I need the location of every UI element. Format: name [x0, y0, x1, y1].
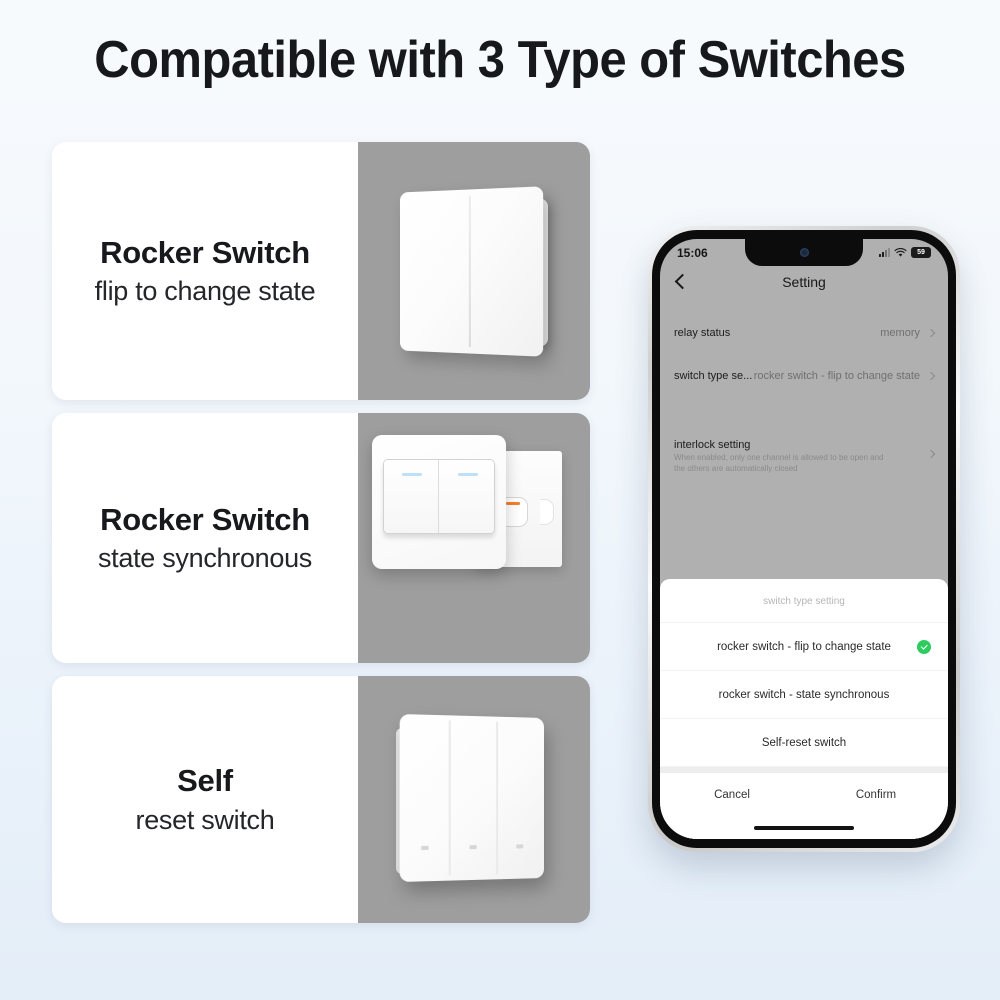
phone-screen: 15:06 59 Setting — [660, 239, 948, 839]
back-chevron-icon[interactable] — [673, 275, 687, 289]
card-subtitle: state synchronous — [98, 542, 312, 574]
wifi-icon — [894, 248, 907, 258]
card-subtitle: flip to change state — [95, 275, 316, 307]
row-description: When enabled, only one channel is allowe… — [674, 453, 886, 475]
chevron-right-icon — [927, 371, 935, 379]
green-check-circle-icon — [917, 640, 931, 654]
nav-title: Setting — [782, 274, 826, 290]
settings-row-interlock[interactable]: interlock setting When enabled, only one… — [660, 430, 948, 484]
card-text-block: Rocker Switch state synchronous — [52, 413, 358, 663]
card-text-block: Rocker Switch flip to change state — [52, 142, 358, 400]
phone-notch — [745, 239, 863, 266]
page-title: Compatible with 3 Type of Switches — [30, 30, 970, 90]
card-rocker-switch-flip: Rocker Switch flip to change state — [52, 142, 590, 400]
settings-row-switch-type[interactable]: switch type se... rocker switch - flip t… — [660, 354, 948, 397]
card-self-reset-switch: Self reset switch — [52, 676, 590, 923]
sheet-option-state-synchronous[interactable]: rocker switch - state synchronous — [660, 671, 948, 719]
phone-body: 15:06 59 Setting — [652, 230, 956, 848]
row-value: memory — [880, 327, 928, 339]
row-value: rocker switch - flip to change state — [754, 370, 928, 382]
row-label: relay status — [674, 327, 730, 339]
row-label: interlock setting — [674, 439, 886, 451]
phone-mockup: 15:06 59 Setting — [648, 226, 960, 852]
settings-row-relay-status[interactable]: relay status memory — [660, 311, 948, 354]
three-gang-self-reset-switch-angled-image — [358, 676, 590, 923]
sheet-option-flip-to-change-state[interactable]: rocker switch - flip to change state — [660, 623, 948, 671]
sheet-option-self-reset-switch[interactable]: Self-reset switch — [660, 719, 948, 767]
row-label: switch type se... — [674, 370, 752, 382]
switch-type-sheet: switch type setting rocker switch - flip… — [660, 579, 948, 839]
cellular-signal-icon — [879, 248, 890, 257]
card-title: Self — [177, 763, 233, 800]
option-label: Self-reset switch — [762, 737, 846, 749]
nav-bar: Setting — [660, 266, 948, 298]
card-text-block: Self reset switch — [52, 676, 358, 923]
sheet-actions: Cancel Confirm — [660, 773, 948, 817]
confirm-button[interactable]: Confirm — [804, 773, 948, 817]
two-gang-rocker-switch-with-round-panel-image — [358, 413, 590, 663]
chevron-right-icon — [927, 328, 935, 336]
two-gang-rocker-switch-angled-image — [358, 142, 590, 400]
chevron-right-icon — [927, 450, 935, 458]
front-camera-icon — [800, 248, 809, 257]
sheet-title: switch type setting — [660, 579, 948, 623]
status-bar-time: 15:06 — [677, 246, 708, 260]
settings-list: relay status memory switch type se... ro… — [660, 311, 948, 484]
card-subtitle: reset switch — [136, 804, 275, 836]
option-label: rocker switch - state synchronous — [719, 689, 890, 701]
card-rocker-switch-synchronous: Rocker Switch state synchronous — [52, 413, 590, 663]
home-indicator — [660, 817, 948, 839]
card-title: Rocker Switch — [100, 502, 310, 539]
card-title: Rocker Switch — [100, 235, 310, 272]
cancel-button[interactable]: Cancel — [660, 773, 804, 817]
battery-icon: 59 — [911, 247, 931, 258]
switch-type-card-list: Rocker Switch flip to change state Rocke… — [52, 142, 598, 923]
option-label: rocker switch - flip to change state — [717, 641, 891, 653]
